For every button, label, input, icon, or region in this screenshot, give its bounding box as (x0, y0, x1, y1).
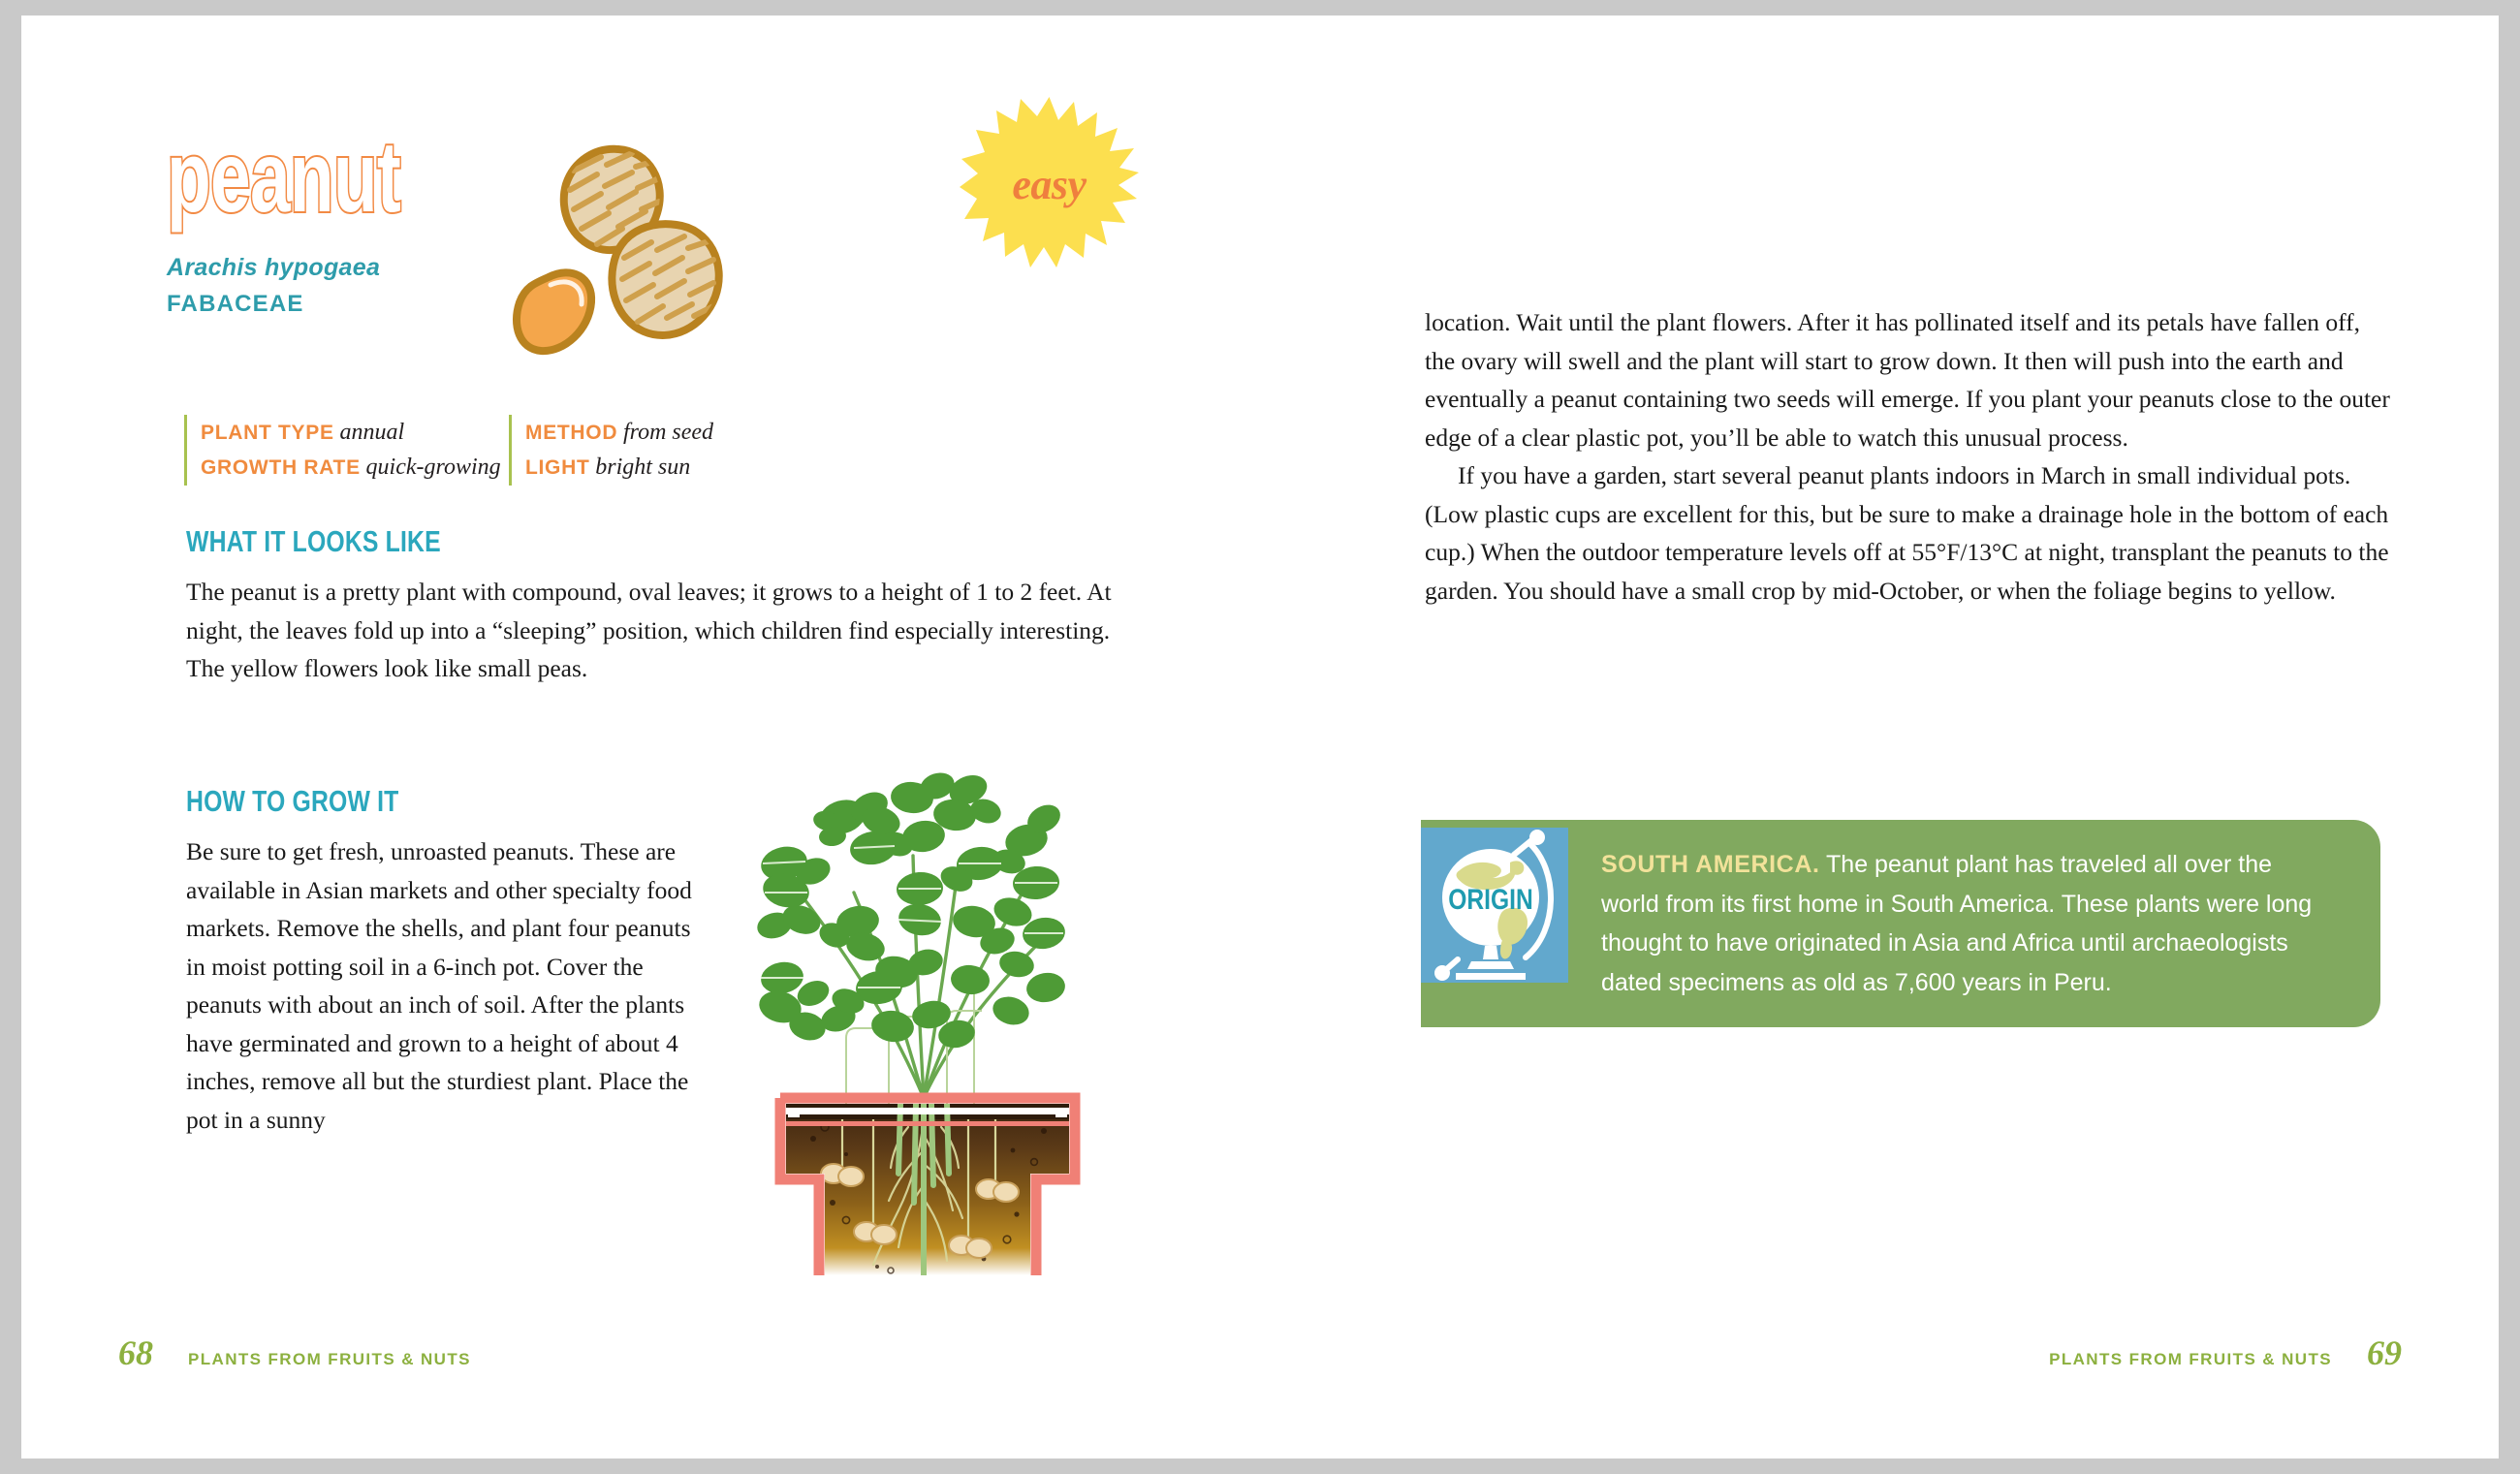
fact-label-growth-rate: GROWTH RATE (201, 456, 361, 479)
right-page: location. Wait until the plant flowers. … (1260, 16, 2499, 1458)
fact-value-growth-rate: quick-growing (366, 455, 501, 480)
footer-left: 68 PLANTS FROM FRUITS & NUTS (118, 1333, 471, 1373)
globe-icon: ORIGIN (1421, 828, 1568, 983)
fact-row-growth-rate: GROWTH RATE quick-growing (201, 450, 509, 485)
running-head-right: PLANTS FROM FRUITS & NUTS (2049, 1350, 2332, 1369)
running-head-left: PLANTS FROM FRUITS & NUTS (188, 1350, 471, 1369)
fact-label-light: LIGHT (525, 456, 590, 479)
difficulty-badge-label: easy (960, 95, 1139, 274)
section-how-to-grow-it: HOW TO GROW IT Be sure to get fresh, unr… (186, 784, 700, 1139)
fact-row-method: METHOD from seed (525, 415, 845, 450)
fact-value-light: bright sun (595, 455, 690, 480)
page-number-right: 69 (2367, 1333, 2402, 1373)
fact-row-light: LIGHT bright sun (525, 450, 845, 485)
facts-column-right: METHOD from seed LIGHT bright sun (509, 415, 845, 486)
origin-callout-text: SOUTH AMERICA. The peanut plant has trav… (1568, 820, 2380, 1027)
plant-cross-section-icon (753, 747, 1102, 1275)
peanut-shell-icon (504, 132, 756, 374)
origin-icon-label: ORIGIN (1448, 883, 1532, 916)
section-what-it-looks-like: WHAT IT LOOKS LIKE The peanut is a prett… (186, 524, 1146, 688)
right-column-body: location. Wait until the plant flowers. … (1425, 303, 2394, 610)
peanut-shell-illustration (504, 132, 756, 374)
origin-region-label: SOUTH AMERICA. (1601, 851, 1820, 878)
facts-column-left: PLANT TYPE annual GROWTH RATE quick-grow… (184, 415, 509, 486)
fact-value-plant-type: annual (339, 420, 404, 445)
section-heading-how-to-grow-it: HOW TO GROW IT (186, 784, 597, 819)
origin-callout: ORIGIN SOUTH AMERICA. The peanut plant h… (1421, 820, 2380, 1027)
section-body-what-it-looks-like: The peanut is a pretty plant with compou… (186, 573, 1141, 688)
footer-right: PLANTS FROM FRUITS & NUTS 69 (2049, 1333, 2402, 1373)
fact-label-method: METHOD (525, 422, 617, 444)
origin-globe-icon: ORIGIN (1421, 828, 1568, 983)
section-body-how-to-grow-it: Be sure to get fresh, unroasted peanuts.… (186, 832, 698, 1139)
book-page-spread: peanut Arachis hypogaea FABACEAE (21, 16, 2499, 1458)
fact-label-plant-type: PLANT TYPE (201, 422, 334, 444)
peanut-plant-pot-illustration (753, 747, 1102, 1275)
body-paragraph-2: If you have a garden, start several pean… (1425, 456, 2394, 610)
fact-row-plant-type: PLANT TYPE annual (201, 415, 509, 450)
difficulty-badge: easy (960, 95, 1139, 274)
plant-facts-box: PLANT TYPE annual GROWTH RATE quick-grow… (184, 415, 863, 486)
fact-value-method: from seed (623, 420, 713, 445)
page-title: peanut (167, 132, 459, 225)
section-heading-what-it-looks-like: WHAT IT LOOKS LIKE (186, 524, 954, 559)
left-page: peanut Arachis hypogaea FABACEAE (21, 16, 1260, 1458)
page-number-left: 68 (118, 1333, 153, 1373)
body-paragraph-1: location. Wait until the plant flowers. … (1425, 303, 2394, 456)
